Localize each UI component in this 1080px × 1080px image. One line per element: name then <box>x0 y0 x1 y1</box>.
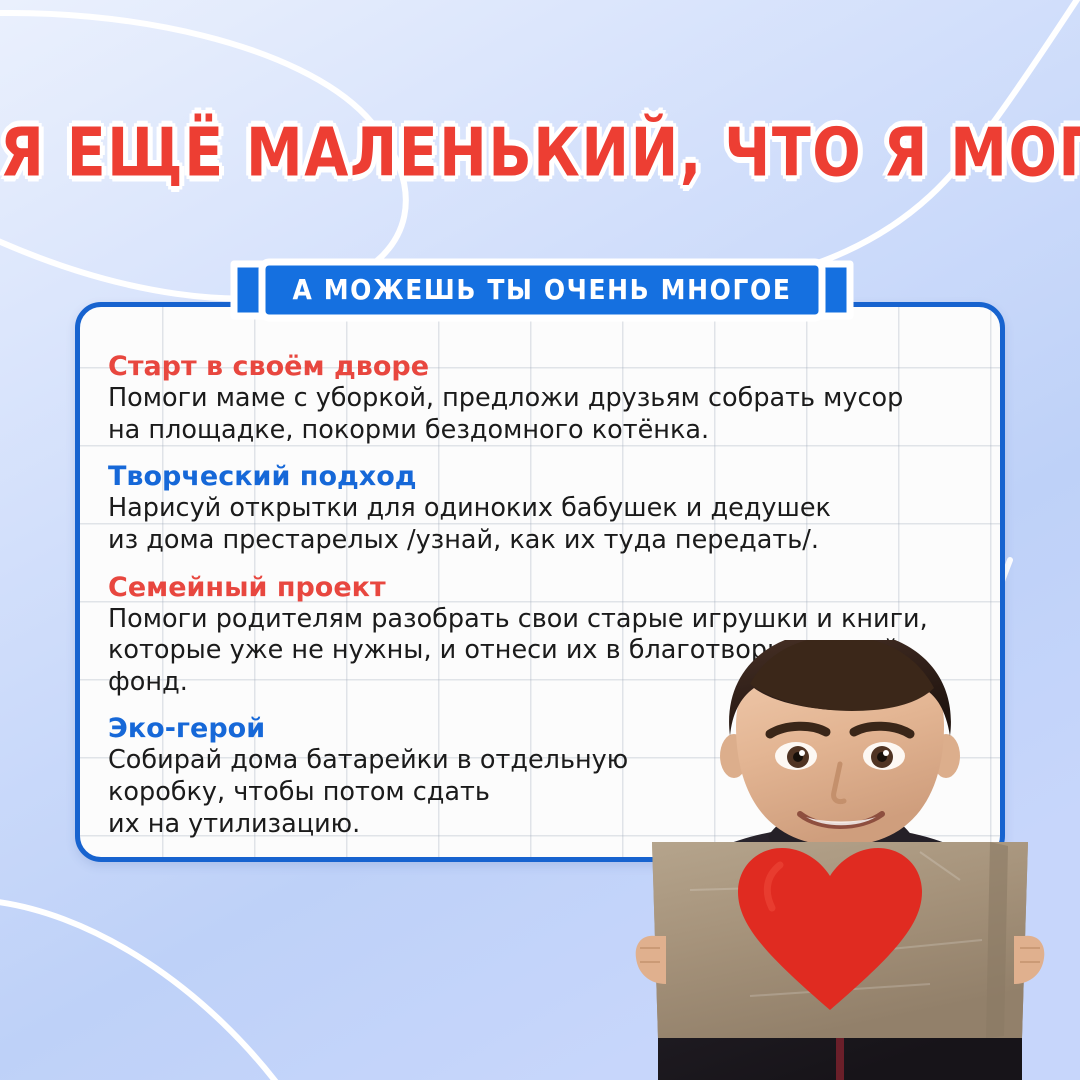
boy-photo <box>630 640 1050 1080</box>
eye-right <box>863 742 905 770</box>
section-body: Помоги маме с уборкой, предложи друзьям … <box>108 383 1000 446</box>
section-heading: Творческий подход <box>108 461 1000 492</box>
list-item: Старт в своём дворе Помоги маме с уборко… <box>108 351 1000 446</box>
section-heading: Старт в своём дворе <box>108 351 1000 382</box>
section-banner: А МОЖЕШЬ ТЫ ОЧЕНЬ МНОГОЕ <box>228 258 856 322</box>
cardboard-box <box>652 842 1028 1038</box>
page-title-wrap: Я ЕЩЁ МАЛЕНЬКИЙ, ЧТО Я МОГУ? <box>0 120 1080 186</box>
eye-left <box>775 742 817 770</box>
section-body: Нарисуй открытки для одиноких бабушек и … <box>108 493 1000 556</box>
page-title: Я ЕЩЁ МАЛЕНЬКИЙ, ЧТО Я МОГУ? <box>0 114 1080 192</box>
banner-label: А МОЖЕШЬ ТЫ ОЧЕНЬ МНОГОЕ <box>228 254 856 326</box>
list-item: Творческий подход Нарисуй открытки для о… <box>108 461 1000 556</box>
section-heading: Семейный проект <box>108 572 1000 603</box>
